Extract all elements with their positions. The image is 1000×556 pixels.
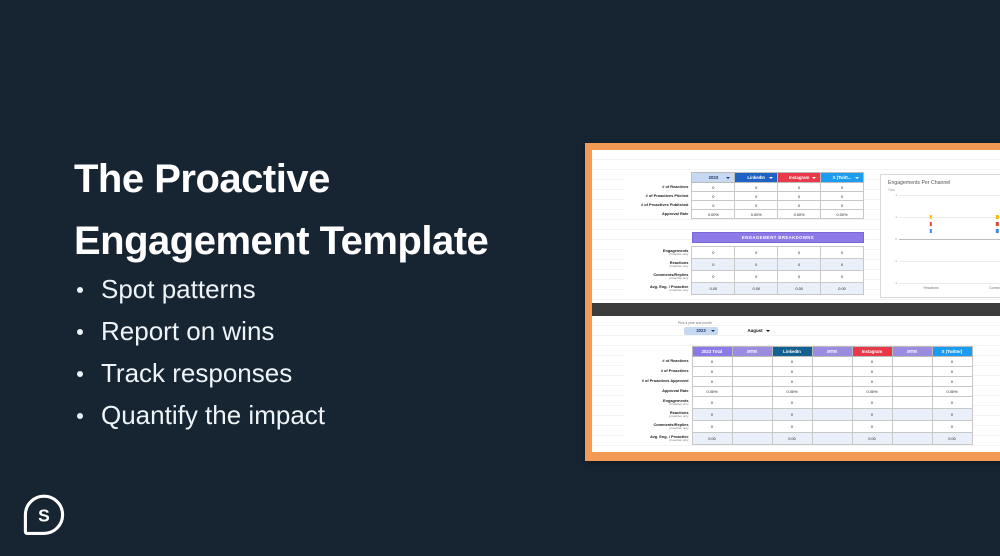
cell[interactable]: 0 (772, 409, 812, 421)
cell[interactable]: 0 (821, 201, 864, 210)
column-header-label: Instagram (789, 175, 810, 180)
row-label: Comments/Replies proactive only (624, 421, 692, 433)
cell[interactable]: 0 (778, 192, 821, 201)
cell[interactable]: 0 (692, 192, 735, 201)
page-title: The Proactive Engagement Template (74, 148, 594, 272)
row-label: Avg. Eng. / Proactive proactive only (624, 433, 692, 445)
column-header-year[interactable]: 2023 (692, 173, 735, 183)
cell[interactable] (812, 409, 852, 421)
cell[interactable]: 0 (932, 397, 972, 409)
chevron-down-icon[interactable] (726, 177, 730, 179)
chart-title: Engagements Per Channel (888, 180, 950, 186)
cell[interactable] (812, 387, 852, 397)
cell[interactable]: 0.00% (692, 387, 732, 397)
list-item: Report on wins (74, 318, 574, 344)
gridline: 1 (899, 217, 1000, 218)
row-label-sub: proactive only (625, 403, 689, 406)
row-label: Reactions proactive only (624, 259, 692, 271)
cell[interactable]: 0 (735, 259, 778, 271)
picker-hint-label: Pick a year and month (678, 321, 712, 325)
cell[interactable]: 0 (735, 247, 778, 259)
cell[interactable]: 0 (821, 259, 864, 271)
cell[interactable]: 0.00 (821, 283, 864, 295)
cell[interactable]: 0.00% (692, 210, 735, 219)
cell[interactable]: 0 (778, 247, 821, 259)
svg-text:S: S (38, 505, 50, 525)
data-point-instagram-reactions (930, 222, 932, 226)
cell[interactable]: 0.00 (778, 283, 821, 295)
slide-left-panel: The Proactive Engagement Template Spot p… (0, 0, 590, 556)
cell[interactable]: 0.00% (778, 210, 821, 219)
cell[interactable] (812, 433, 852, 445)
month-picker-dropdown[interactable]: August (738, 327, 772, 335)
table-row: Avg. Eng. / Proactive proactive only 0.0… (624, 433, 972, 445)
cell[interactable] (732, 357, 772, 367)
engagements-per-channel-chart[interactable]: Engagements Per Channel Total 1 1 0 -1 -… (880, 174, 1000, 298)
table-row: Comments/Replies proactive only 0 0 0 0 (624, 271, 864, 283)
dashboard-top-section: 2023 LinkedIn Instagram X (Twitt... (592, 150, 1000, 303)
cell[interactable]: 0 (692, 397, 732, 409)
cell[interactable] (812, 377, 852, 387)
row-label: # of Proactives Published (624, 201, 692, 210)
cell[interactable] (732, 397, 772, 409)
cell[interactable] (732, 377, 772, 387)
chevron-down-icon[interactable] (766, 330, 770, 332)
table-row: Reactions proactive only 0 0 0 0 (624, 259, 864, 271)
cell[interactable] (892, 433, 932, 445)
cell[interactable] (812, 367, 852, 377)
data-point-twitter-comments (996, 229, 998, 233)
table-row: Comments/Replies proactive only 0 0 0 0 (624, 421, 972, 433)
table-row: Approval Rate 0.00% 0.00% 0.00% 0.00% (624, 210, 864, 219)
cell[interactable]: 0 (735, 192, 778, 201)
cell[interactable]: 0 (772, 357, 812, 367)
x-axis-tick: Reactions (924, 286, 939, 290)
row-label: Engagements proactive only (624, 397, 692, 409)
headline-line-1: The Proactive (74, 148, 594, 210)
cell[interactable]: 0 (692, 247, 735, 259)
chevron-down-icon[interactable] (711, 330, 715, 332)
column-header-mtm-instagram[interactable]: MTM (892, 347, 932, 357)
row-label: Reactions proactive only (624, 409, 692, 421)
cell[interactable]: 0 (778, 271, 821, 283)
y-axis-tick: 0 (895, 237, 897, 241)
cell[interactable]: 0 (692, 357, 732, 367)
cell[interactable]: 0 (778, 201, 821, 210)
x-axis-tick: Comments (989, 286, 1000, 290)
cell[interactable]: 0 (821, 192, 864, 201)
cell[interactable]: 0.00% (852, 387, 892, 397)
row-label-sub: proactive only (625, 253, 688, 256)
table-row: # of Reactives 0 0 0 0 (624, 357, 972, 367)
table-row: Reactions proactive only 0 0 0 0 (624, 409, 972, 421)
cell[interactable]: 0 (932, 377, 972, 387)
cell[interactable]: 0 (821, 183, 864, 192)
column-header-mtm-linkedin[interactable]: MTM (812, 347, 852, 357)
cell[interactable]: 0 (852, 397, 892, 409)
banner-label: ENGAGEMENT BREAKDOWNS (742, 235, 814, 240)
table-row: Engagements proactive only 0 0 0 0 (624, 247, 864, 259)
cell[interactable]: 0 (932, 421, 972, 433)
data-point-twitter-reactions (930, 229, 932, 233)
table-row: Approval Rate 0.00% 0.00% 0.00% 0.00% (624, 387, 972, 397)
cell[interactable]: 0 (772, 421, 812, 433)
row-label: # of Reactives (624, 183, 692, 192)
y-axis-tick: 1 (895, 215, 897, 219)
column-header-label: X (Twitt... (833, 175, 852, 180)
engagement-breakdown-table: Engagements proactive only 0 0 0 0 React… (624, 246, 864, 295)
row-label: Engagements proactive only (624, 247, 692, 259)
month-picker-value: August (747, 328, 762, 333)
feature-bullet-list: Spot patterns Report on wins Track respo… (74, 276, 574, 444)
cell[interactable]: 0 (772, 367, 812, 377)
gridline-zero: 0 (899, 239, 1000, 240)
cell[interactable]: 0 (821, 271, 864, 283)
list-item: Track responses (74, 360, 574, 386)
corner-cell (624, 347, 692, 357)
column-header-linkedin[interactable]: LinkedIn (735, 173, 778, 183)
cell[interactable]: 0 (692, 367, 732, 377)
cell[interactable]: 0 (692, 409, 732, 421)
chevron-down-icon[interactable] (769, 177, 773, 179)
table-row: # of Proactives Pitched 0 0 0 0 (624, 192, 864, 201)
cell[interactable]: 0.00 (772, 433, 812, 445)
cell[interactable]: 0 (735, 201, 778, 210)
column-header-label: 2023 (709, 175, 719, 180)
sprout-social-logo-icon: S (22, 493, 66, 537)
cell[interactable]: 0 (692, 421, 732, 433)
engagement-breakdowns-banner: ENGAGEMENT BREAKDOWNS (692, 232, 864, 243)
row-label: Comments/Replies proactive only (624, 271, 692, 283)
section-divider (592, 303, 1000, 316)
cell[interactable] (892, 367, 932, 377)
column-header-mtm-total[interactable]: MTM (732, 347, 772, 357)
y-axis-tick: 1 (895, 193, 897, 197)
gridline: 1 (899, 195, 1000, 196)
row-label: # of Proactives Approved (624, 377, 692, 387)
cell[interactable]: 0 (852, 367, 892, 377)
cell[interactable]: 0 (772, 397, 812, 409)
cell[interactable] (812, 397, 852, 409)
column-header-total[interactable]: 2023 Total (692, 347, 732, 357)
cell[interactable] (812, 357, 852, 367)
cell[interactable]: 0 (852, 357, 892, 367)
list-item: Quantify the impact (74, 402, 574, 428)
dashboard-bottom-section: Pick a year and month 2023 August 2023 T… (592, 316, 1000, 452)
table-row: # of Reactives 0 0 0 0 (624, 183, 864, 192)
cell[interactable]: 0 (772, 377, 812, 387)
cell[interactable] (732, 409, 772, 421)
table-header-row: 2023 Total MTM LinkedIn MTM Instagram MT… (624, 347, 972, 357)
column-header-twitter[interactable]: X (Twitter) (932, 347, 972, 357)
table-row: Avg. Eng. / Proactive proactive only 0.0… (624, 283, 864, 295)
list-item: Spot patterns (74, 276, 574, 302)
chart-plot-area: 1 1 0 -1 -1 Reactions Comments (899, 195, 1000, 283)
cell[interactable] (892, 357, 932, 367)
cell[interactable] (732, 387, 772, 397)
row-label: # of Proactives (624, 367, 692, 377)
column-header-twitter[interactable]: X (Twitt... (821, 173, 864, 183)
column-header-instagram[interactable]: Instagram (852, 347, 892, 357)
chart-subtitle: Total (888, 188, 895, 192)
row-label-sub: proactive only (625, 289, 688, 292)
cell[interactable]: 0.00 (852, 433, 892, 445)
row-label-sub: proactive only (625, 427, 689, 430)
table-row: # of Proactives Published 0 0 0 0 (624, 201, 864, 210)
cell[interactable]: 0 (778, 183, 821, 192)
row-label-sub: proactive only (625, 415, 689, 418)
cell[interactable]: 0.00% (821, 210, 864, 219)
column-header-linkedin[interactable]: LinkedIn (772, 347, 812, 357)
cell[interactable]: 0 (735, 183, 778, 192)
column-header-instagram[interactable]: Instagram (778, 173, 821, 183)
cell[interactable]: 0 (735, 271, 778, 283)
cell[interactable]: 0 (932, 367, 972, 377)
row-label-sub: proactive only (625, 265, 688, 268)
cell[interactable]: 0 (852, 377, 892, 387)
cell[interactable]: 0 (778, 259, 821, 271)
cell[interactable]: 0.00% (735, 210, 778, 219)
row-label-sub: proactive only (625, 277, 688, 280)
data-point-instagram-comments (996, 222, 998, 226)
table-header-row: 2023 LinkedIn Instagram X (Twitt... (624, 173, 864, 183)
cell[interactable]: 0.00% (932, 387, 972, 397)
year-picker-value: 2023 (696, 328, 705, 333)
cell[interactable]: 0 (692, 201, 735, 210)
monthly-breakdown-table: 2023 Total MTM LinkedIn MTM Instagram MT… (624, 346, 973, 445)
cell[interactable] (892, 397, 932, 409)
row-label-sub: proactive only (625, 439, 689, 442)
cell[interactable] (812, 421, 852, 433)
cell[interactable]: 0.00% (772, 387, 812, 397)
table-row: # of Proactives 0 0 0 0 (624, 367, 972, 377)
chevron-down-icon[interactable] (855, 177, 859, 179)
y-axis-tick: -1 (894, 259, 897, 263)
spreadsheet-viewport[interactable]: 2023 LinkedIn Instagram X (Twitt... (592, 150, 1000, 452)
column-header-label: LinkedIn (747, 175, 765, 180)
chevron-down-icon[interactable] (812, 177, 816, 179)
data-point-linkedin-comments (996, 215, 998, 219)
cell[interactable]: 0.00 (692, 283, 735, 295)
y-axis-tick: -1 (894, 281, 897, 285)
row-label: # of Reactives (624, 357, 692, 367)
cell[interactable]: 0 (932, 409, 972, 421)
cell[interactable] (892, 421, 932, 433)
cell[interactable] (732, 367, 772, 377)
gridline: -1 (899, 283, 1000, 284)
spreadsheet-preview-card: 2023 LinkedIn Instagram X (Twitt... (585, 143, 1000, 461)
cell[interactable]: 0 (692, 271, 735, 283)
row-label: Approval Rate (624, 210, 692, 219)
cell[interactable] (892, 409, 932, 421)
cell[interactable] (732, 421, 772, 433)
cell[interactable]: 0 (692, 183, 735, 192)
cell[interactable]: 0.00 (692, 433, 732, 445)
table-row: Engagements proactive only 0 0 0 0 (624, 397, 972, 409)
cell[interactable]: 0 (932, 357, 972, 367)
cell[interactable]: 0 (821, 247, 864, 259)
row-label: Avg. Eng. / Proactive proactive only (624, 283, 692, 295)
row-label: # of Proactives Pitched (624, 192, 692, 201)
year-picker-dropdown[interactable]: 2023 (684, 327, 718, 335)
cell[interactable]: 0.00 (735, 283, 778, 295)
cell[interactable] (892, 387, 932, 397)
table-row: # of Proactives Approved 0 0 0 0 (624, 377, 972, 387)
summary-table: 2023 LinkedIn Instagram X (Twitt... (624, 172, 864, 219)
row-label: Approval Rate (624, 387, 692, 397)
cell[interactable]: 0 (852, 409, 892, 421)
cell[interactable] (732, 433, 772, 445)
cell[interactable]: 0 (692, 259, 735, 271)
gridline: -1 (899, 261, 1000, 262)
cell[interactable]: 0 (692, 377, 732, 387)
data-point-linkedin-reactions (930, 215, 932, 219)
headline-line-2: Engagement Template (74, 210, 594, 272)
cell[interactable]: 0 (852, 421, 892, 433)
cell[interactable]: 0.00 (932, 433, 972, 445)
corner-cell (624, 173, 692, 183)
cell[interactable] (892, 377, 932, 387)
